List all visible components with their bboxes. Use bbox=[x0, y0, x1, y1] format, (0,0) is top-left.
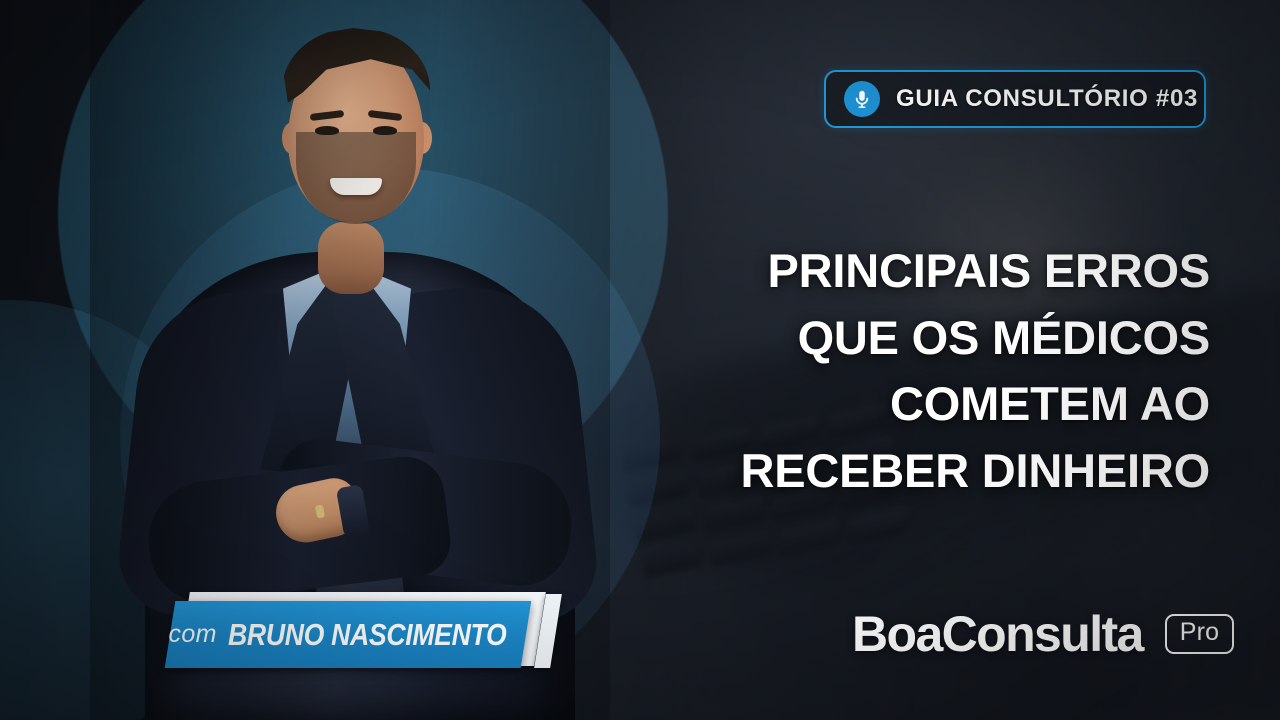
headline-line-1: PRINCIPAIS ERROS bbox=[570, 238, 1210, 305]
portrait-smile bbox=[330, 178, 382, 195]
headline-line-2: QUE OS MÉDICOS bbox=[570, 305, 1210, 372]
portrait-eye-left bbox=[315, 126, 339, 135]
headline-line-3: COMETEM AO bbox=[570, 371, 1210, 438]
microphone-icon bbox=[844, 81, 880, 117]
page-title: PRINCIPAIS ERROS QUE OS MÉDICOS COMETEM … bbox=[570, 238, 1210, 505]
speaker-name: BRUNO NASCIMENTO bbox=[228, 617, 506, 653]
banner-text-group: com BRUNO NASCIMENTO bbox=[190, 601, 530, 668]
brand-wordmark: BoaConsulta bbox=[852, 605, 1143, 663]
episode-badge-label: GUIA CONSULTÓRIO #03 bbox=[896, 85, 1198, 113]
portrait-eye-right bbox=[373, 126, 397, 135]
episode-badge[interactable]: GUIA CONSULTÓRIO #03 bbox=[824, 70, 1206, 128]
speaker-name-banner: com BRUNO NASCIMENTO bbox=[160, 592, 580, 678]
brand-pro-badge: Pro bbox=[1165, 614, 1235, 654]
banner-prefix-label: com bbox=[168, 620, 216, 649]
episode-cover: GUIA CONSULTÓRIO #03 PRINCIPAIS ERROS QU… bbox=[0, 0, 1280, 720]
portrait-neck bbox=[318, 222, 384, 294]
headline-line-4: RECEBER DINHEIRO bbox=[570, 438, 1210, 505]
brand-logo[interactable]: BoaConsulta Pro bbox=[852, 605, 1234, 663]
